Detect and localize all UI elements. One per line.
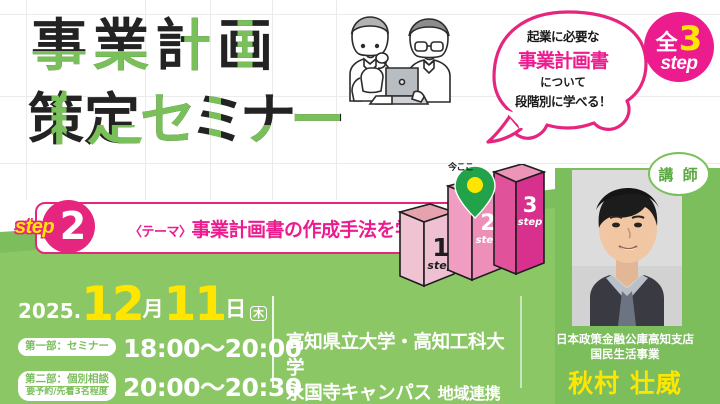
bubble-line-1: 起業に必要な xyxy=(487,26,639,45)
bubble-line-2: 事業計画書 xyxy=(487,46,639,73)
current-step-word: step xyxy=(15,216,54,239)
divider-schedule-venue xyxy=(272,296,274,388)
steps-chart: 1 step 2 step 3 step xyxy=(392,164,552,294)
svg-text:step: step xyxy=(518,217,543,228)
step-block-1: 1 step xyxy=(400,204,455,286)
part-2-label: 第二部：個別相談 xyxy=(25,373,109,385)
all-steps-suffix: step xyxy=(660,54,697,73)
part-2-label-group: 第二部：個別相談 要予約/先着3名程度 xyxy=(18,371,116,400)
all-steps-badge: 全 3 step xyxy=(644,12,714,82)
title-char: ナナ xyxy=(240,88,290,154)
chart-marker-label: 今ここ xyxy=(448,160,474,173)
title-char: 事事 xyxy=(28,14,90,80)
speaker-name: 秋村 壮威 xyxy=(530,364,720,400)
speaker-org-line-2: 国民生活事業 xyxy=(530,347,720,362)
all-steps-prefix: 全 xyxy=(656,33,678,55)
title-char: ーー xyxy=(290,88,340,154)
title-char: 策策 xyxy=(28,88,84,154)
title-char: セセ xyxy=(140,88,190,154)
seminar-poster: 事事 業業 計計 画画 策策 定定 セセ ミミ ナナ ーー xyxy=(0,0,720,404)
speaker-org-line-1: 日本政策金融公庫高知支店 xyxy=(530,332,720,347)
people-illustration-icon xyxy=(330,6,470,106)
day-number: 11 xyxy=(164,284,225,326)
svg-text:3: 3 xyxy=(523,193,538,217)
speaker-organization: 日本政策金融公庫高知支店 国民生活事業 xyxy=(530,332,720,362)
year-text: 2025. xyxy=(18,299,81,323)
month-unit: 月 xyxy=(143,293,164,323)
instructor-badge: 講 師 xyxy=(648,152,710,196)
part-2-time: 20:00〜20:30 xyxy=(123,368,302,404)
current-step-badge: 2 step xyxy=(42,200,95,253)
part-1-label: 第一部：セミナー xyxy=(18,338,116,355)
all-steps-count: 3 xyxy=(679,22,703,56)
title-char: 定定 xyxy=(84,88,140,154)
svg-text:1: 1 xyxy=(432,233,449,262)
theme-label: 〈テーマ〉 xyxy=(129,225,192,240)
title-char: 画画 xyxy=(214,14,276,80)
venue-line-2-row: 永国寺キャンパス 地域連携棟 xyxy=(286,381,516,404)
venue-line-1: 高知県立大学・高知工科大学 xyxy=(286,330,516,381)
weekday-badge: 木 xyxy=(250,306,267,321)
bubble-line-4: 段階別に学べる！ xyxy=(487,91,639,110)
venue-block: 高知県立大学・高知工科大学 永国寺キャンパス 地域連携棟 xyxy=(286,330,516,404)
title-char: 計計 xyxy=(152,14,214,80)
divider-venue-speaker xyxy=(520,296,522,388)
page-title: 事事 業業 計計 画画 策策 定定 セセ ミミ ナナ ーー xyxy=(28,14,338,160)
title-char: ミミ xyxy=(190,88,240,154)
title-char: 業業 xyxy=(90,14,152,80)
schedule-block: 2025. 12 月 11 日 木 第一部：セミナー 18:00〜20:00 第… xyxy=(18,278,302,404)
bubble-text-block: 起業に必要な 事業計画書 について 段階別に学べる！ xyxy=(487,22,639,114)
part-1-row: 第一部：セミナー 18:00〜20:00 xyxy=(18,329,302,365)
day-unit: 日 xyxy=(225,293,246,323)
part-2-note: 要予約/先着3名程度 xyxy=(25,386,109,398)
bubble-line-3: について xyxy=(487,74,639,90)
step-block-3: 3 step xyxy=(494,164,544,274)
part-2-row: 第二部：個別相談 要予約/先着3名程度 20:00〜20:30 xyxy=(18,368,302,404)
venue-line-2: 永国寺キャンパス xyxy=(286,383,432,404)
part-1-time: 18:00〜20:00 xyxy=(123,329,302,365)
date-line: 2025. 12 月 11 日 木 xyxy=(18,278,302,326)
month-number: 12 xyxy=(81,284,142,326)
